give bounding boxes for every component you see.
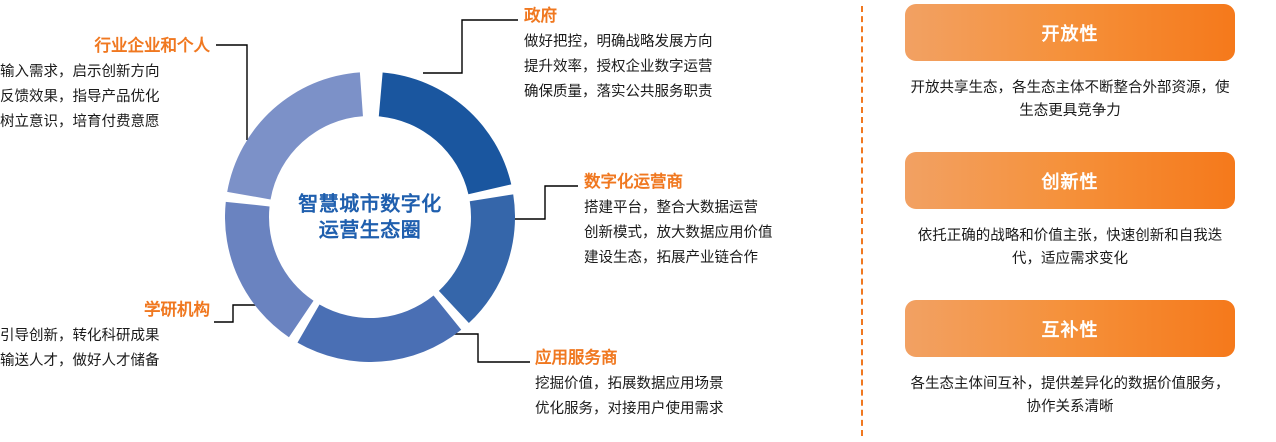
attribute-card-openness: 开放性 开放共享生态，各生态主体不断整合外部资源，使生态更具竞争力 <box>905 4 1235 124</box>
attribute-card-complementarity-body: 各生态主体间互补，提供差异化的数据价值服务，协作关系清晰 <box>905 373 1235 420</box>
attributes-cards-pane: 开放性 开放共享生态，各生态主体不断整合外部资源，使生态更具竞争力 创新性 依托… <box>863 0 1276 442</box>
attribute-card-openness-body: 开放共享生态，各生态主体不断整合外部资源，使生态更具竞争力 <box>905 77 1235 124</box>
attribute-card-openness-pill[interactable]: 开放性 <box>905 4 1235 61</box>
callout-line: 挖掘价值，拓展数据应用场景 <box>535 372 724 397</box>
donut-segment-appservice[interactable] <box>298 296 462 362</box>
callout-government-lines: 做好把控，明确战略发展方向 提升效率，授权企业数字运营 确保质量，落实公共服务职… <box>524 30 713 105</box>
callout-academia-title: 学研机构 <box>0 300 216 321</box>
donut-chart-svg <box>225 72 515 362</box>
attribute-card-complementarity-pill[interactable]: 互补性 <box>905 300 1235 357</box>
callout-line: 建设生态，拓展产业链合作 <box>584 246 773 271</box>
donut-segment-government[interactable] <box>379 73 511 195</box>
donut-chart: 智慧城市数字化 运营生态圈 <box>225 72 515 362</box>
attribute-card-innovation-label: 创新性 <box>1042 168 1099 194</box>
callout-operator-title: 数字化运营商 <box>584 172 773 193</box>
ecosystem-diagram-pane: 智慧城市数字化 运营生态圈 行业企业和个人 输入需求，启示创新方向 反馈效果，指… <box>0 0 862 442</box>
callout-line: 搭建平台，整合大数据运营 <box>584 196 773 221</box>
callout-line: 反馈效果，指导产品优化 <box>0 85 216 110</box>
donut-segment-academia[interactable] <box>225 202 314 337</box>
callout-line: 引导创新，转化科研成果 <box>0 324 216 349</box>
donut-segment-industry[interactable] <box>227 72 363 199</box>
callout-line: 树立意识，培育付费意愿 <box>0 110 216 135</box>
callout-academia: 学研机构 引导创新，转化科研成果 输送人才，做好人才储备 <box>0 300 216 374</box>
callout-operator: 数字化运营商 搭建平台，整合大数据运营 创新模式，放大数据应用价值 建设生态，拓… <box>584 172 773 270</box>
callout-appservice: 应用服务商 挖掘价值，拓展数据应用场景 优化服务，对接用户使用需求 <box>535 348 724 422</box>
callout-industry-title: 行业企业和个人 <box>0 36 216 57</box>
callout-industry-lines: 输入需求，启示创新方向 反馈效果，指导产品优化 树立意识，培育付费意愿 <box>0 60 216 135</box>
callout-line: 创新模式，放大数据应用价值 <box>584 221 773 246</box>
callout-line: 输送人才，做好人才储备 <box>0 349 216 374</box>
callout-appservice-lines: 挖掘价值，拓展数据应用场景 优化服务，对接用户使用需求 <box>535 372 724 422</box>
attribute-card-openness-label: 开放性 <box>1042 20 1099 46</box>
callout-government: 政府 做好把控，明确战略发展方向 提升效率，授权企业数字运营 确保质量，落实公共… <box>524 6 713 104</box>
callout-appservice-title: 应用服务商 <box>535 348 724 369</box>
callout-line: 做好把控，明确战略发展方向 <box>524 30 713 55</box>
callout-line: 提升效率，授权企业数字运营 <box>524 55 713 80</box>
attribute-card-innovation-pill[interactable]: 创新性 <box>905 152 1235 209</box>
callout-government-title: 政府 <box>524 6 713 27</box>
callout-academia-lines: 引导创新，转化科研成果 输送人才，做好人才储备 <box>0 324 216 374</box>
callout-line: 优化服务，对接用户使用需求 <box>535 397 724 422</box>
callout-line: 输入需求，启示创新方向 <box>0 60 216 85</box>
attribute-card-complementarity-label: 互补性 <box>1042 316 1099 342</box>
attribute-card-innovation-body: 依托正确的战略和价值主张，快速创新和自我迭代，适应需求变化 <box>905 225 1235 272</box>
callout-industry: 行业企业和个人 输入需求，启示创新方向 反馈效果，指导产品优化 树立意识，培育付… <box>0 36 216 134</box>
attribute-card-innovation: 创新性 依托正确的战略和价值主张，快速创新和自我迭代，适应需求变化 <box>905 152 1235 272</box>
donut-segment-operator[interactable] <box>439 194 515 323</box>
callout-operator-lines: 搭建平台，整合大数据运营 创新模式，放大数据应用价值 建设生态，拓展产业链合作 <box>584 196 773 271</box>
callout-line: 确保质量，落实公共服务职责 <box>524 80 713 105</box>
attribute-card-complementarity: 互补性 各生态主体间互补，提供差异化的数据价值服务，协作关系清晰 <box>905 300 1235 420</box>
